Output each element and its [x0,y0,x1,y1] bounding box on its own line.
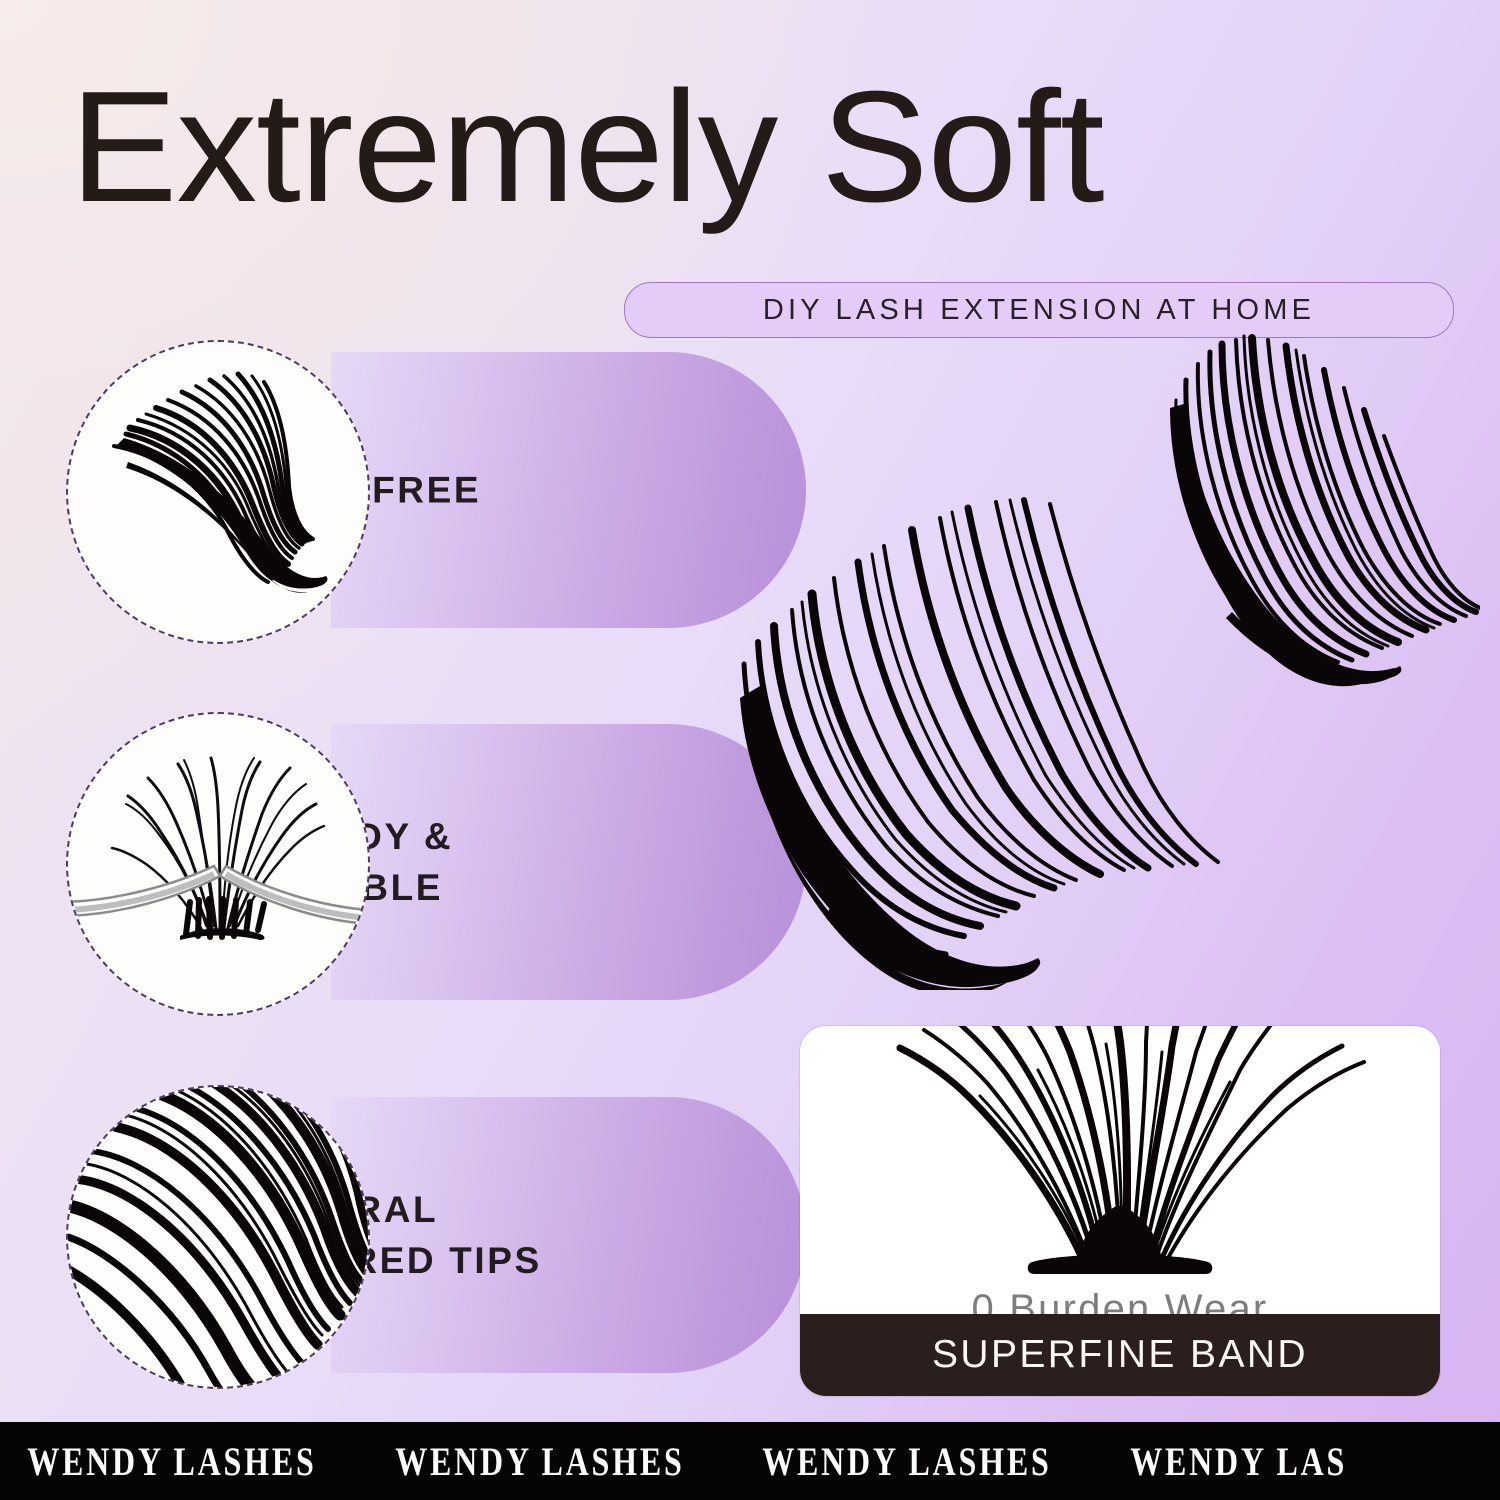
product-card-art [800,1026,1440,1284]
product-card-bar: SUPERFINE BAND [800,1314,1440,1396]
feature-row-sturdy-durable: STURDY & DURABLE [66,712,766,1012]
lash-cluster-curl-icon [68,342,368,642]
product-infographic: Extremely Soft DIY LASH EXTENSION AT HOM… [0,0,1500,1500]
subtitle-pill-label: DIY LASH EXTENSION AT HOME [763,294,1315,327]
feature-image-circle [66,712,370,1016]
two-lash-clusters-icon [740,330,1480,990]
feature-image-circle [66,1085,370,1389]
product-card-bar-label: SUPERFINE BAND [932,1333,1308,1377]
page-title: Extremely Soft [70,68,1498,226]
feature-row-knot-free: KNOT-FREE [66,340,766,640]
lash-fibers-closeup-icon [68,1087,368,1387]
feature-row-natural-tapered-tips: NATURAL TAPERED TIPS [66,1085,766,1385]
footer-watermark-strip: WENDY LASHES WENDY LASHES WENDY LASHES W… [0,1422,1500,1500]
hero-lash-illustration [740,330,1480,990]
watermark-text: WENDY LASHES [0,1438,317,1485]
tweezers-holding-lash-icon [68,714,368,1014]
watermark-text: WENDY LASHES [368,1438,685,1485]
watermark-text: WENDY LASHES [735,1438,1052,1485]
product-card: 0 Burden Wear SUPERFINE BAND [800,1026,1440,1396]
lash-cluster-on-band-icon [800,1026,1440,1284]
watermark-text: WENDY LAS [1103,1438,1347,1485]
feature-image-circle [66,340,370,644]
